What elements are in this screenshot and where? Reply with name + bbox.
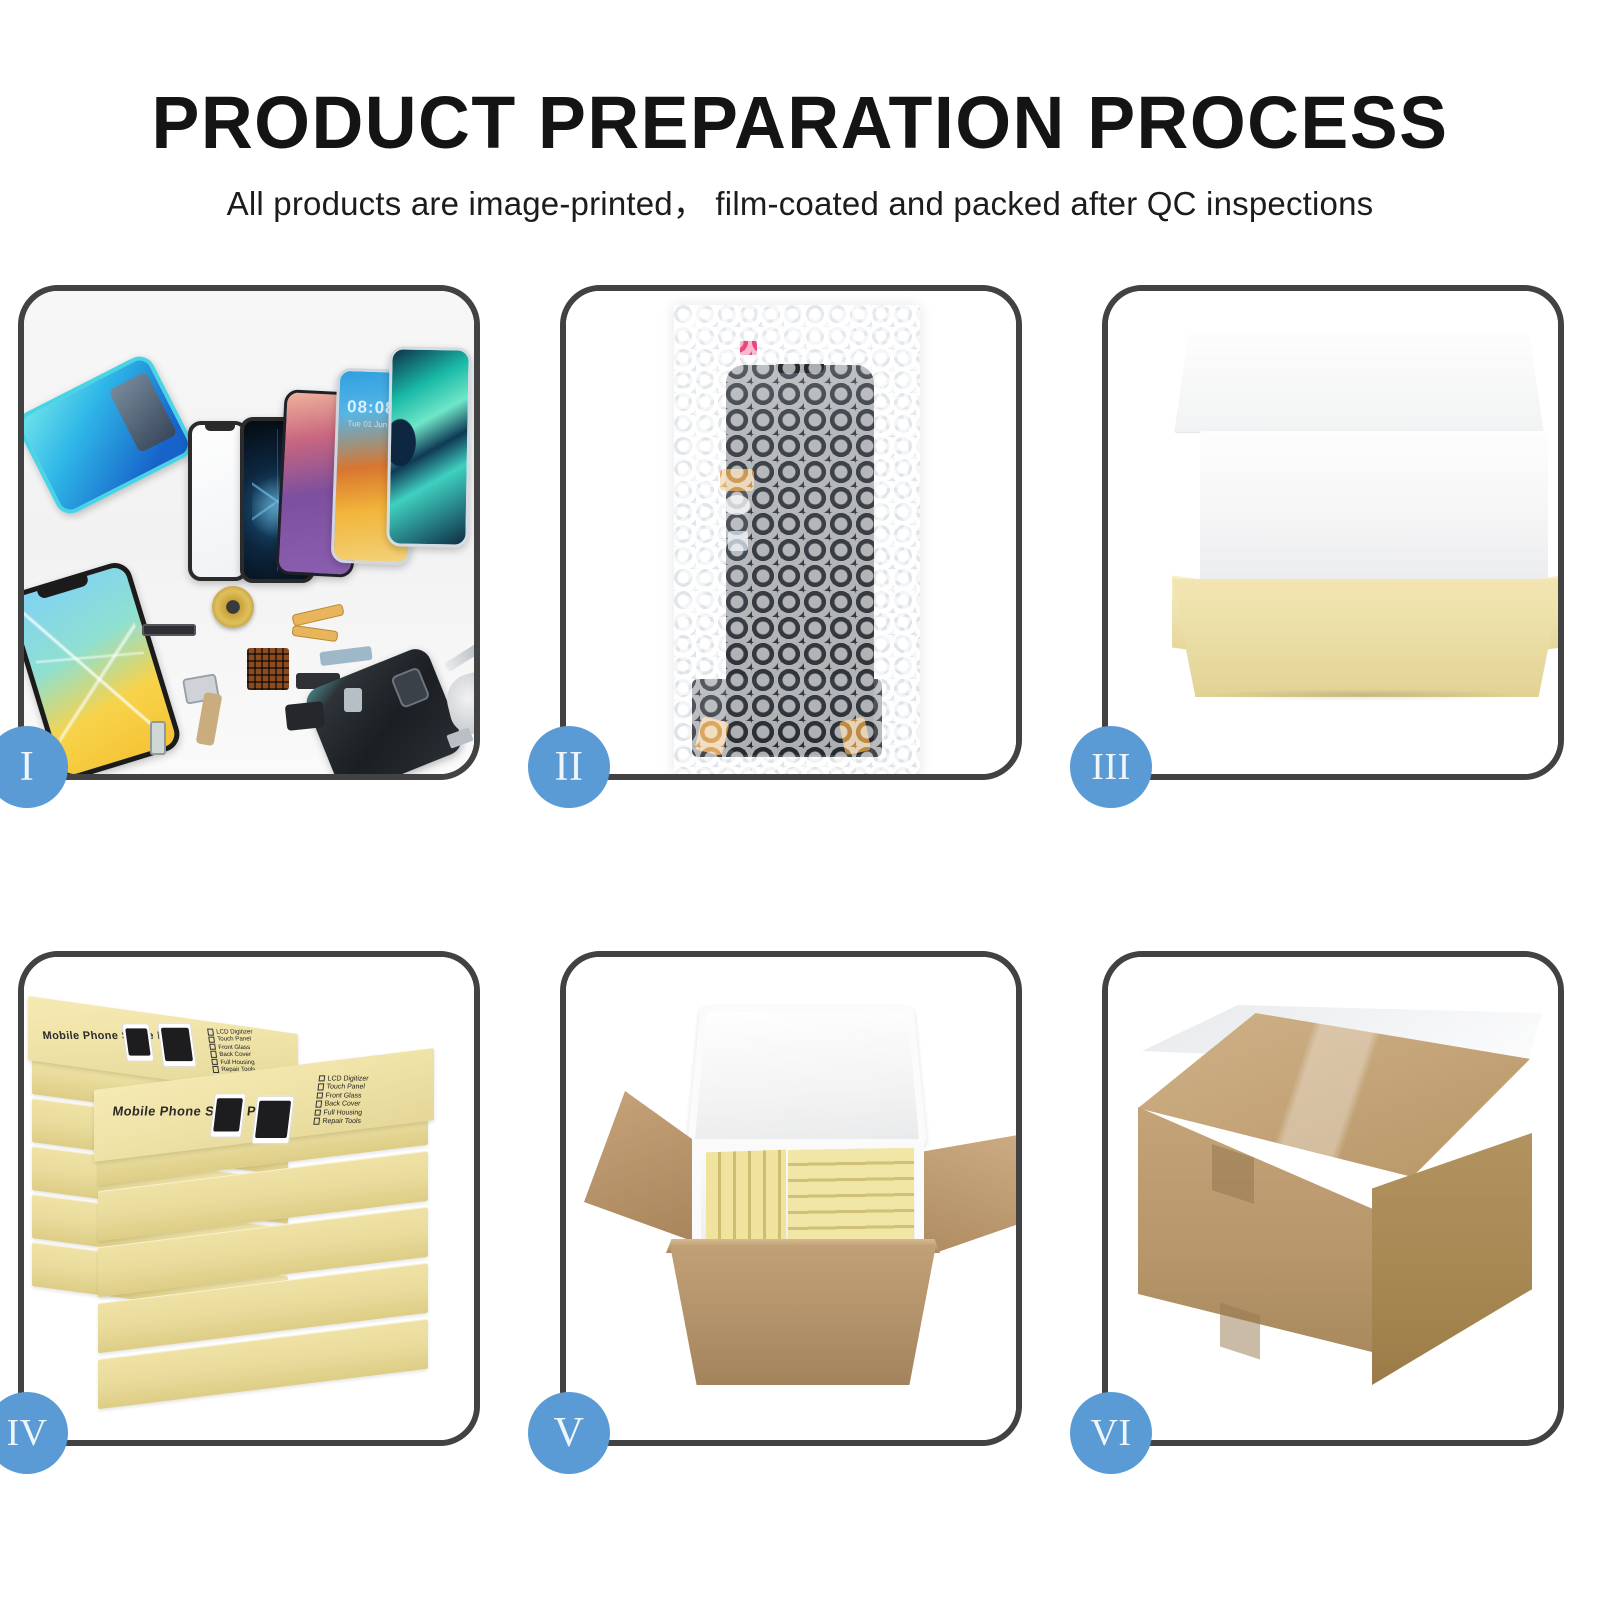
bubble-wrapped-lcd-image — [566, 291, 1016, 774]
lcd-flex-gold-tab — [720, 469, 754, 491]
teal-swirl-phone-icon — [386, 346, 471, 547]
retail-box-checklist-right: LCD Digitizer Touch Panel Front Glass Ba… — [313, 1075, 369, 1126]
checklist-item: LCD Digitizer — [207, 1029, 253, 1036]
white-foam-sheet — [1200, 431, 1548, 581]
step-badge-6: VI — [1070, 1392, 1152, 1474]
page-title: PRODUCT PREPARATION PROCESS — [24, 0, 1576, 166]
infographic-page: PRODUCT PREPARATION PROCESS All products… — [0, 0, 1600, 1600]
panel-image-1: 08:08 Tue 01 Jun — [24, 291, 474, 774]
ic-chip-icon — [247, 648, 289, 690]
checklist-item: Back Cover — [315, 1101, 366, 1110]
blue-adhesive-frame-icon — [24, 351, 197, 519]
step-badge-3: III — [1070, 726, 1152, 808]
qc-pink-label — [740, 341, 757, 355]
sealed-carton-image — [1108, 957, 1558, 1440]
yellow-box-front — [1172, 579, 1558, 697]
speaker-part-icon — [142, 624, 196, 636]
panel-image-2 — [566, 291, 1016, 774]
process-step-panel-6[interactable]: VI — [1102, 951, 1564, 1446]
camera-module-icon — [285, 701, 326, 731]
process-step-panel-1[interactable]: 08:08 Tue 01 Jun — [18, 285, 480, 780]
box-back-lid — [1174, 333, 1544, 433]
vibration-motor-icon — [344, 688, 362, 712]
carton-flap-left — [584, 1091, 692, 1241]
gold-boxes-group-right — [788, 1148, 914, 1248]
process-step-panel-2[interactable]: II — [560, 285, 1022, 780]
lcd-bottom-flex-cluster — [692, 679, 882, 757]
front-glass-icon — [188, 421, 248, 581]
lcd-sensor-part — [728, 531, 748, 551]
checklist-item: LCD Digitizer — [318, 1075, 369, 1084]
process-grid: 08:08 Tue 01 Jun — [18, 285, 1582, 1445]
foam-tray-box-image — [1108, 291, 1558, 774]
panel-image-4: Mobile Phone Spare Parts LCD Digitizer T… — [24, 957, 474, 1440]
gold-box-stacks-image: Mobile Phone Spare Parts LCD Digitizer T… — [24, 957, 474, 1440]
checklist-item: Touch Panel — [317, 1084, 368, 1093]
checklist-item: Full Housing — [211, 1058, 257, 1065]
bubble-wrap-sleeve — [674, 305, 920, 774]
step-badge-5: V — [528, 1392, 610, 1474]
flex-cable-b-icon — [291, 625, 338, 642]
checklist-item: Back Cover — [210, 1051, 256, 1058]
panel-image-6 — [1108, 957, 1558, 1440]
lcd-earpiece-part — [724, 495, 750, 515]
box-drop-shadow — [1204, 689, 1524, 701]
gold-boxes-group-left — [706, 1150, 786, 1249]
foam-case-lid — [687, 1006, 927, 1147]
page-subtitle: All products are image-printed， film-coa… — [0, 166, 1600, 226]
header: PRODUCT PREPARATION PROCESS All products… — [0, 0, 1600, 250]
phone-date-label: Tue 01 Jun — [347, 419, 387, 429]
tweezer-tool-icon — [444, 632, 474, 672]
retail-box-checklist-left: LCD Digitizer Touch Panel Front Glass Ba… — [207, 1029, 258, 1074]
process-step-panel-4[interactable]: Mobile Phone Spare Parts LCD Digitizer T… — [18, 951, 480, 1446]
box-phone-photo-b-left — [157, 1023, 197, 1067]
wireless-charging-coil-icon — [212, 586, 254, 628]
box-phone-photo-a-left — [121, 1023, 154, 1061]
process-step-panel-5[interactable]: V — [560, 951, 1022, 1446]
flex-cable-a-icon — [291, 603, 344, 626]
box-phone-photo-a-right — [209, 1093, 246, 1137]
sim-tray-icon — [150, 721, 166, 755]
checklist-item: Touch Panel — [208, 1036, 254, 1043]
checklist-item: Repair Tools — [313, 1118, 364, 1127]
checklist-item: Front Glass — [316, 1092, 367, 1101]
carton-body — [670, 1245, 936, 1385]
spare-parts-collage-image: 08:08 Tue 01 Jun — [24, 291, 474, 774]
box-phone-photo-b-right — [251, 1096, 295, 1144]
checklist-item: Full Housing — [314, 1109, 365, 1118]
button-flex-icon — [319, 646, 372, 666]
checklist-item: Front Glass — [209, 1044, 255, 1051]
open-carton-image — [566, 957, 1016, 1440]
step-badge-2: II — [528, 726, 610, 808]
panel-image-5 — [566, 957, 1016, 1440]
process-step-panel-3[interactable]: III — [1102, 285, 1564, 780]
panel-image-3 — [1108, 291, 1558, 774]
